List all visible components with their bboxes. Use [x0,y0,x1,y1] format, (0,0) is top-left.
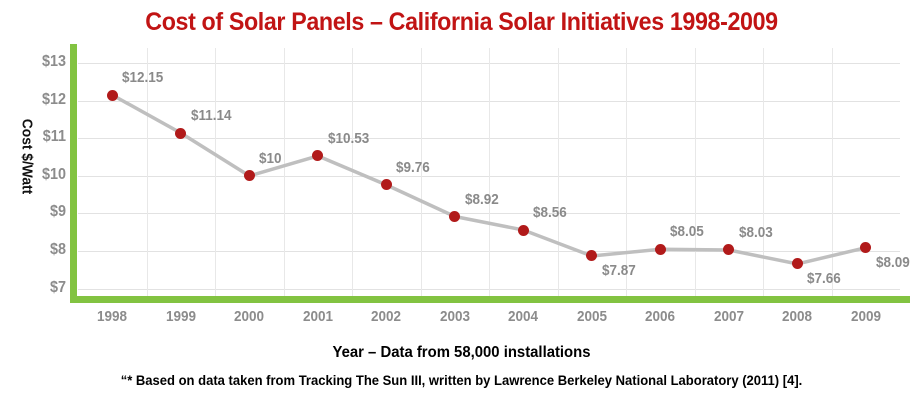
x-axis-tick-label: 2009 [835,308,896,325]
source-note: “* Based on data taken from Tracking The… [32,372,890,388]
data-point-marker[interactable] [655,244,666,255]
x-axis-tick-label: 2002 [356,308,417,325]
data-point-label: $8.03 [739,224,773,241]
gridline-vertical [832,48,833,300]
y-axis-line [70,44,77,303]
y-axis-tick-label: $7 [12,279,66,297]
y-axis-title: Cost $/Watt [19,106,36,207]
data-point-label: $9.76 [396,159,430,176]
gridline-vertical [215,48,216,300]
data-point-marker[interactable] [175,128,186,139]
gridline-vertical [489,48,490,300]
data-point-label: $8.92 [465,191,499,208]
x-axis-line [70,296,910,303]
x-axis-title: Year – Data from 58,000 installations [32,344,890,362]
x-axis-tick-label: 1999 [150,308,211,325]
x-axis-tick-label: 2004 [493,308,554,325]
plot-area [78,48,900,300]
data-point-label: $12.15 [122,69,163,86]
gridline-vertical [695,48,696,300]
gridline-vertical [352,48,353,300]
gridline-vertical [763,48,764,300]
y-axis-tick-label: $13 [12,53,66,71]
data-point-label: $10.53 [328,130,369,147]
x-axis-tick-label: 2007 [698,308,759,325]
x-axis-tick-label: 2000 [219,308,280,325]
data-point-label: $10 [259,150,282,167]
data-point-label: $8.09 [876,254,910,271]
data-point-label: $8.56 [533,204,567,221]
x-axis-tick-label: 1998 [82,308,143,325]
x-axis-tick-label: 2005 [561,308,622,325]
data-point-label: $8.05 [670,223,704,240]
x-axis-tick-label: 2008 [767,308,828,325]
data-point-label: $7.66 [807,270,841,287]
gridline-vertical [284,48,285,300]
data-point-marker[interactable] [107,90,118,101]
x-axis-tick-label: 2001 [287,308,348,325]
x-axis-tick-label: 2003 [424,308,485,325]
gridline-vertical [558,48,559,300]
data-point-marker[interactable] [518,225,529,236]
y-axis-tick-label: $8 [12,241,66,259]
x-axis-tick-label: 2006 [630,308,691,325]
data-point-label: $7.87 [602,262,636,279]
data-point-label: $11.14 [191,107,232,124]
solar-panel-cost-chart: Cost of Solar Panels – California Solar … [0,0,923,400]
chart-title: Cost of Solar Panels – California Solar … [32,8,890,37]
